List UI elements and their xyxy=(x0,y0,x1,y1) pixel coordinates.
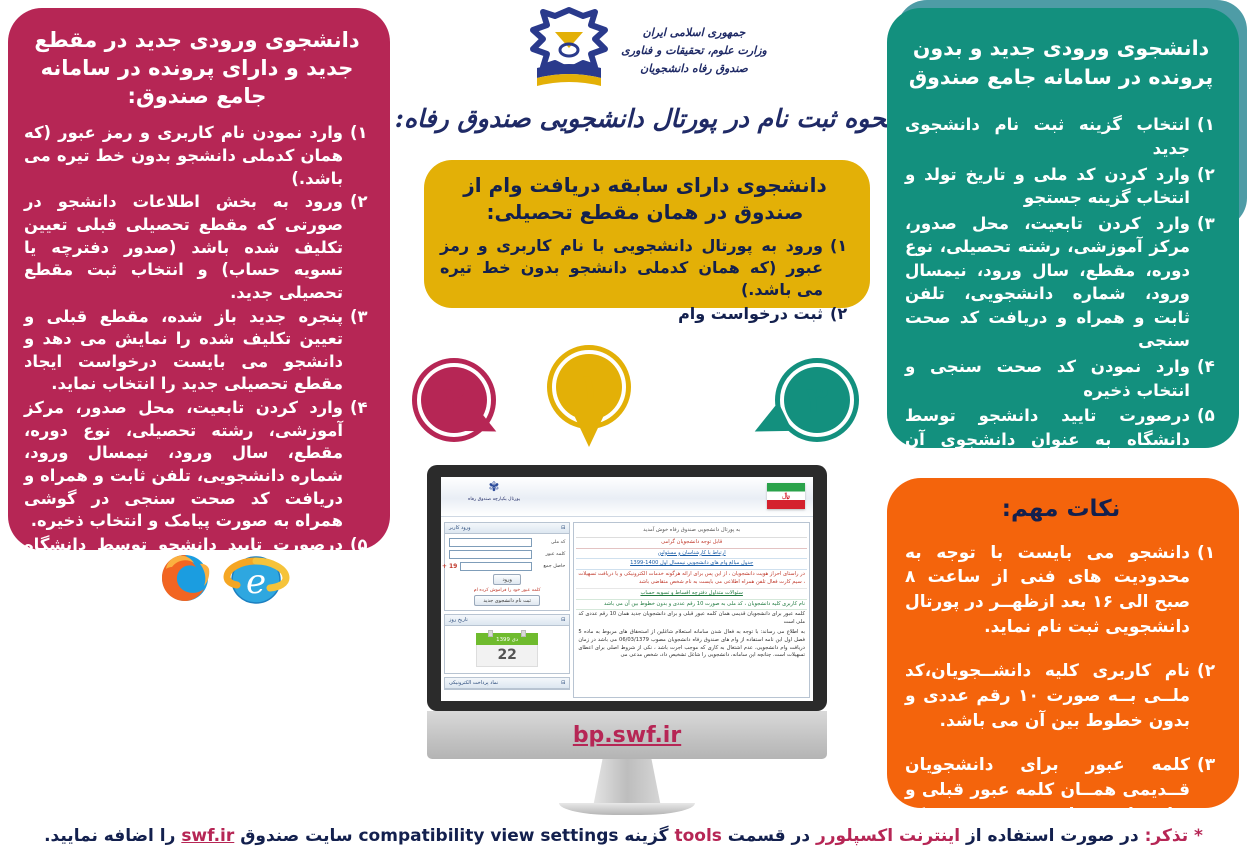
collapse-icon[interactable]: ⊟ xyxy=(561,525,565,531)
login-box-title: ورود کاربر xyxy=(449,525,471,531)
new-student-register-button[interactable]: ثبت نام دانشجوی جدید xyxy=(474,595,540,606)
list-item: ۳) پنجره جدید باز شده، مقطع قبلی و تعیین… xyxy=(24,306,370,397)
captcha-question: = 10 + 19 xyxy=(441,563,457,570)
list-item: ۴) وارد نمودن کد صحت سنجی و انتخاب ذخیره xyxy=(905,355,1217,402)
list-item: ۲) ورود به بخش اطلاعات دانشجو در صورتی ک… xyxy=(24,191,370,304)
list-item: ۱) ورود به پورتال دانشجویی با نام کاربری… xyxy=(440,235,850,302)
footnote-compat-setting: compatibility view settings xyxy=(358,826,618,846)
calendar-widget: دی 1399 22 xyxy=(476,633,538,667)
captcha-label: حاصل جمع xyxy=(535,564,565,569)
news-body-employment: به اطلاع می رساند: با توجه به فعال شدن س… xyxy=(576,628,807,661)
panel-new-student-with-file: دانشجوی ورودی جدید در مقطع جدید و دارای … xyxy=(8,8,390,550)
panel-existing-loan-student: دانشجوی دارای سابقه دریافت وام از صندوق … xyxy=(424,160,870,308)
list-item-text: نام کاربری کلیه دانشــجویان،کد ملــی بــ… xyxy=(905,659,1190,733)
swf-emblem-icon xyxy=(521,6,617,96)
news-link-faq[interactable]: سئوالات متداول دفترچه اقساط و تسویه حساب xyxy=(576,589,807,600)
captcha-row: حاصل جمع = 10 + 19 xyxy=(449,562,565,571)
site-header: ﷼ ✾ پورتال یکپارچه صندوق رفاه xyxy=(441,477,813,517)
list-item-text: دانشجو می بایست با توجه به محدودیت های ف… xyxy=(905,541,1190,640)
panel-orange-title: نکات مهم: xyxy=(905,494,1217,525)
password-input[interactable] xyxy=(449,550,532,559)
footnote-text-3: گزینه xyxy=(619,826,675,846)
list-item-text: ورود به بخش اطلاعات دانشجو در صورتی که م… xyxy=(24,191,343,304)
list-item-text: وارد نمودن نام کاربری و رمز عبور (که هما… xyxy=(24,122,343,190)
forgot-password-link[interactable]: کلمه عبور خود را فراموش کرده ام xyxy=(449,588,565,593)
step-badge-2: ۲ xyxy=(412,358,496,442)
portal-sidebar: ⊟ ورود کاربر کد ملی کلمه عبور xyxy=(444,522,570,698)
step-badge-3-number: ۳ xyxy=(806,380,828,421)
login-button-row: ورود xyxy=(449,574,565,585)
logo-line-1: جمهوری اسلامی ایران xyxy=(621,24,767,42)
list-item-number: ۱) xyxy=(1197,113,1217,160)
list-item-number: ۴) xyxy=(350,397,370,533)
list-item-number: ۲) xyxy=(830,303,850,325)
list-item: ۱) دانشجو می بایست با توجه به محدودیت ها… xyxy=(905,541,1217,640)
logo-line-2: وزارت علوم، تحقیقات و فناوری xyxy=(621,42,767,60)
internet-explorer-icon: e xyxy=(222,547,294,605)
portal-content: ⊟ ورود کاربر کد ملی کلمه عبور xyxy=(441,519,813,701)
list-item-text: ورود به پورتال دانشجویی با نام کاربری و … xyxy=(440,235,823,302)
panel-important-notes: نکات مهم: ۱) دانشجو می بایست با توجه به … xyxy=(887,478,1239,808)
monitor-url-link[interactable]: bp.swf.ir xyxy=(573,723,681,748)
panel-new-student-no-file: دانشجوی ورودی جدید و بدون پرونده در ساما… xyxy=(887,8,1239,448)
site-logo-caption: پورتال یکپارچه صندوق رفاه xyxy=(468,497,520,502)
calendar-day: 22 xyxy=(476,645,538,667)
list-item-number: ۳) xyxy=(350,306,370,397)
login-button[interactable]: ورود xyxy=(493,574,520,585)
footnote-swf-link[interactable]: swf.ir xyxy=(181,826,234,846)
date-box-header: ⊟ تاریخ روز xyxy=(445,615,569,626)
login-box: ⊟ ورود کاربر کد ملی کلمه عبور xyxy=(444,522,570,611)
list-item-number: ۳) xyxy=(1197,212,1217,353)
panel-right-title: دانشجوی ورودی جدید و بدون پرونده در ساما… xyxy=(905,34,1217,91)
news-link-loan-table[interactable]: جدول مبالغ وام های دانشجویی نیمسال اول 1… xyxy=(576,559,807,570)
portal-screenshot: ﷼ ✾ پورتال یکپارچه صندوق رفاه ⊟ ورود کار… xyxy=(441,477,813,701)
list-item-number: ۱) xyxy=(830,235,850,302)
list-item-text: وارد کردن تابعیت، محل صدور، مرکز آموزشی،… xyxy=(24,397,343,533)
organization-logo-block: جمهوری اسلامی ایران وزارت علوم، تحقیقات … xyxy=(521,6,767,96)
list-item: ۳) وارد کردن تابعیت، محل صدور، مرکز آموز… xyxy=(905,212,1217,353)
password-label: کلمه عبور xyxy=(535,552,565,557)
step-badge-1-pointer xyxy=(573,413,605,447)
firefox-icon xyxy=(152,547,214,605)
infographic-canvas: دانشجوی ورودی جدید در مقطع جدید و دارای … xyxy=(0,0,1247,858)
news-body-identity: در راستای احراز هویت دانشجویان ، از این … xyxy=(576,570,807,589)
list-item-text: پنجره جدید باز شده، مقطع قبلی و تعیین تک… xyxy=(24,306,343,397)
calendar-rings-icon xyxy=(488,630,526,637)
list-item-number: ۲) xyxy=(1197,163,1217,210)
new-registration-row: ثبت نام دانشجوی جدید xyxy=(449,595,565,606)
footnote-prefix: * تذکر: xyxy=(1145,826,1203,846)
footnote-text-5: را اضافه نمایید. xyxy=(44,826,181,846)
iran-flag-icon: ﷼ xyxy=(767,483,805,509)
footnote-text-4: سایت صندوق xyxy=(234,826,358,846)
list-item-text: وارد کردن کد ملی و تاریخ تولد و انتخاب گ… xyxy=(905,163,1190,210)
list-item-number: ۲) xyxy=(350,191,370,304)
list-item-text: ثبت درخواست وام xyxy=(440,303,823,325)
footnote-text-2: در قسمت xyxy=(722,826,816,846)
step-badge-1: ۱ xyxy=(547,345,631,429)
payment-box-title: نماد پرداخت الکترونیکی xyxy=(449,680,498,686)
national-id-row: کد ملی xyxy=(449,538,565,547)
news-body-username: نام کاربری کلیه دانشجویان ، کد ملی به صو… xyxy=(576,600,807,611)
list-item-text: وارد کردن تابعیت، محل صدور، مرکز آموزشی،… xyxy=(905,212,1190,353)
monitor-mockup: ﷼ ✾ پورتال یکپارچه صندوق رفاه ⊟ ورود کار… xyxy=(427,465,827,815)
footnote-text-1: در صورت استفاده از xyxy=(960,826,1145,846)
list-item-text: انتخاب گزینه ثبت نام دانشجوی جدید xyxy=(905,113,1190,160)
captcha-input[interactable] xyxy=(460,562,532,571)
list-item-number: ۱) xyxy=(1197,541,1217,640)
step-badge-3: ۳ xyxy=(775,358,859,442)
panel-orange-list: ۱) دانشجو می بایست با توجه به محدودیت ها… xyxy=(905,541,1217,852)
step-badge-2-number: ۲ xyxy=(443,380,465,421)
site-logo: ✾ پورتال یکپارچه صندوق رفاه xyxy=(455,480,533,503)
portal-news-column: به پورتال دانشجویی صندوق رفاه خوش آمدید … xyxy=(573,522,810,698)
list-item-number: ۵) xyxy=(350,534,370,647)
site-emblem-icon: ✾ xyxy=(455,480,533,497)
collapse-icon[interactable]: ⊟ xyxy=(561,680,565,686)
payment-box-header: ⊟ نماد پرداخت الکترونیکی xyxy=(445,678,569,689)
list-item: ۴) وارد کردن تابعیت، محل صدور، مرکز آموز… xyxy=(24,397,370,533)
page-title: نحوه ثبت نام در پورتال دانشجویی صندوق رف… xyxy=(395,104,894,133)
footnote-highlight-ie: اینترنت اکسپلورر xyxy=(816,826,960,846)
collapse-icon[interactable]: ⊟ xyxy=(561,617,565,623)
list-item-number: ۲) xyxy=(1197,659,1217,733)
footnote-tools: tools xyxy=(674,826,721,846)
organization-logo-text: جمهوری اسلامی ایران وزارت علوم، تحقیقات … xyxy=(621,24,767,78)
payment-box: ⊟ نماد پرداخت الکترونیکی xyxy=(444,677,570,690)
date-box-body: دی 1399 22 xyxy=(445,626,569,673)
national-id-label: کد ملی xyxy=(535,540,565,545)
browser-icons-group: e xyxy=(128,545,318,607)
monitor-stand-neck xyxy=(593,759,661,807)
monitor-bezel: ﷼ ✾ پورتال یکپارچه صندوق رفاه ⊟ ورود کار… xyxy=(427,465,827,711)
list-item-number: ۴) xyxy=(1197,355,1217,402)
panel-yellow-list: ۱) ورود به پورتال دانشجویی با نام کاربری… xyxy=(440,235,850,326)
list-item: ۲) ثبت درخواست وام xyxy=(440,303,850,325)
list-item: ۱) وارد نمودن نام کاربری و رمز عبور (که … xyxy=(24,122,370,190)
logo-line-3: صندوق رفاه دانشجویان xyxy=(621,60,767,78)
svg-text:e: e xyxy=(246,562,266,602)
login-box-body: کد ملی کلمه عبور حاصل جمع xyxy=(445,534,569,610)
news-link-experts[interactable]: ارتباط با کارشناسان و مسئولین xyxy=(576,549,807,560)
list-item: ۲) نام کاربری کلیه دانشــجویان،کد ملــی … xyxy=(905,659,1217,733)
monitor-stand-foot xyxy=(559,803,695,815)
panel-left-title: دانشجوی ورودی جدید در مقطع جدید و دارای … xyxy=(24,26,370,110)
notice-title: قابل توجه دانشجویان گرامی xyxy=(576,538,807,549)
page-header: جمهوری اسلامی ایران وزارت علوم، تحقیقات … xyxy=(398,2,890,160)
panel-yellow-title: دانشجوی دارای سابقه دریافت وام از صندوق … xyxy=(440,172,850,226)
footer-note: * تذکر: در صورت استفاده از اینترنت اکسپل… xyxy=(6,826,1241,846)
national-id-input[interactable] xyxy=(449,538,532,547)
login-box-header: ⊟ ورود کاربر xyxy=(445,523,569,534)
monitor-base: bp.swf.ir xyxy=(427,711,827,759)
news-body-password: کلمه عبور برای دانشجویان قدیمی همان کلمه… xyxy=(576,610,807,628)
list-item: ۲) وارد کردن کد ملی و تاریخ تولد و انتخا… xyxy=(905,163,1217,210)
date-box-title: تاریخ روز xyxy=(449,617,468,623)
list-item: ۱) انتخاب گزینه ثبت نام دانشجوی جدید xyxy=(905,113,1217,160)
date-box: ⊟ تاریخ روز دی 1399 22 xyxy=(444,614,570,674)
step-badge-1-number: ۱ xyxy=(578,367,600,408)
welcome-message: به پورتال دانشجویی صندوق رفاه خوش آمدید xyxy=(576,525,807,538)
list-item-text: وارد نمودن کد صحت سنجی و انتخاب ذخیره xyxy=(905,355,1190,402)
password-row: کلمه عبور xyxy=(449,550,565,559)
list-item-number: ۱) xyxy=(350,122,370,190)
